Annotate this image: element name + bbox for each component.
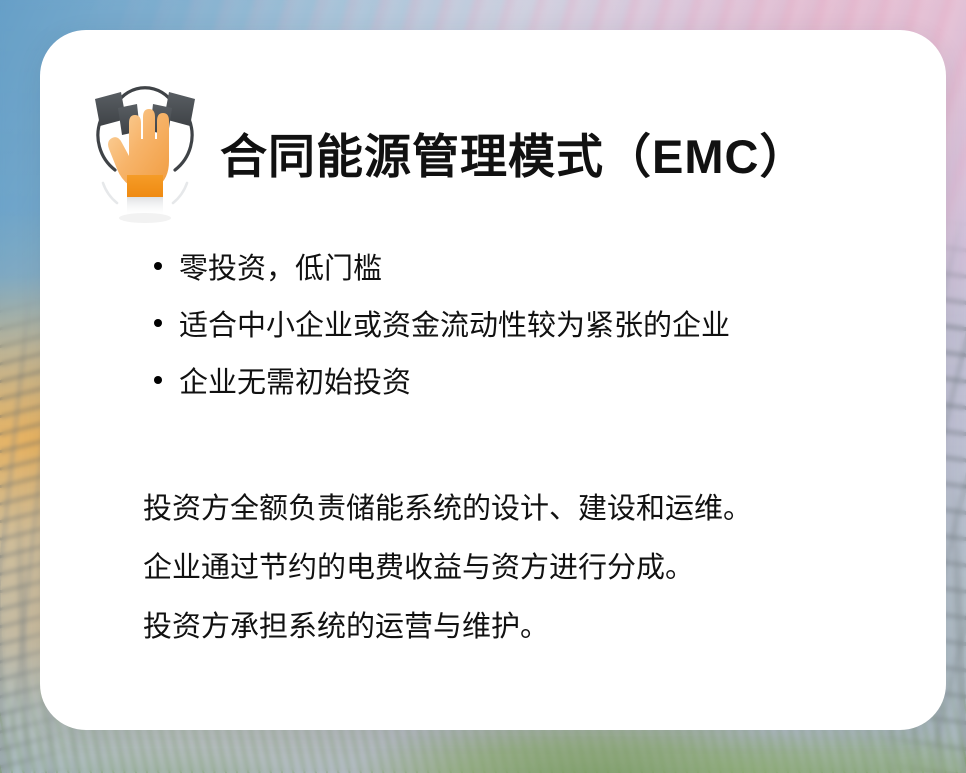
list-item: 企业无需初始投资 — [143, 366, 730, 400]
handshake-hand-arrows-icon — [85, 75, 205, 225]
feature-list: 零投资，低门槛 适合中小企业或资金流动性较为紧张的企业 企业无需初始投资 — [143, 252, 730, 424]
detail-paragraphs: 投资方全额负责储能系统的设计、建设和运维。 企业通过节约的电费收益与资方进行分成… — [143, 492, 752, 670]
screenshot-stage: 合同能源管理模式（EMC） 零投资，低门槛 适合中小企业或资金流动性较为紧张的企… — [0, 0, 966, 773]
list-item: 零投资，低门槛 — [143, 252, 730, 286]
bullet-icon — [154, 262, 162, 270]
card-header: 合同能源管理模式（EMC） — [40, 30, 946, 230]
list-item-label: 适合中小企业或资金流动性较为紧张的企业 — [179, 310, 730, 342]
detail-line: 投资方承担系统的运营与维护。 — [143, 610, 752, 644]
list-item-label: 企业无需初始投资 — [179, 367, 411, 399]
bullet-icon — [154, 376, 162, 384]
detail-line: 企业通过节约的电费收益与资方进行分成。 — [143, 551, 752, 585]
detail-line: 投资方全额负责储能系统的设计、建设和运维。 — [143, 492, 752, 526]
list-item-label: 零投资，低门槛 — [179, 253, 382, 285]
page-title: 合同能源管理模式（EMC） — [220, 133, 807, 180]
bullet-icon — [154, 319, 162, 327]
content-card: 合同能源管理模式（EMC） 零投资，低门槛 适合中小企业或资金流动性较为紧张的企… — [40, 30, 946, 730]
list-item: 适合中小企业或资金流动性较为紧张的企业 — [143, 309, 730, 343]
